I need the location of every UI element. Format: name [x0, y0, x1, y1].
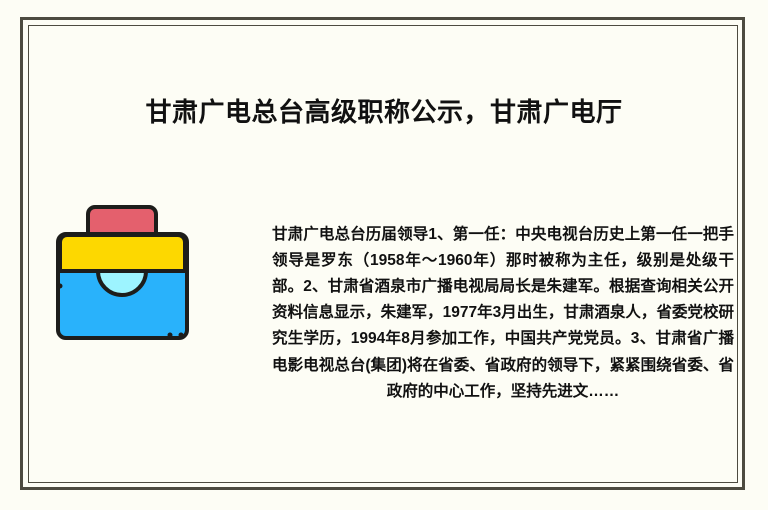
page-title: 甘肃广电总台高级职称公示，甘肃广电厅 — [0, 95, 768, 129]
article-body-text: 甘肃广电总台历届领导1、第一任：中央电视台历史上第一任一把手领导是罗东（1958… — [272, 222, 734, 405]
article-preview-card: 甘肃广电总台高级职称公示，甘肃广电厅 甘肃广电总台历届领导1、第一任：中央电视台… — [0, 0, 768, 510]
briefcase-illustration — [50, 198, 195, 346]
